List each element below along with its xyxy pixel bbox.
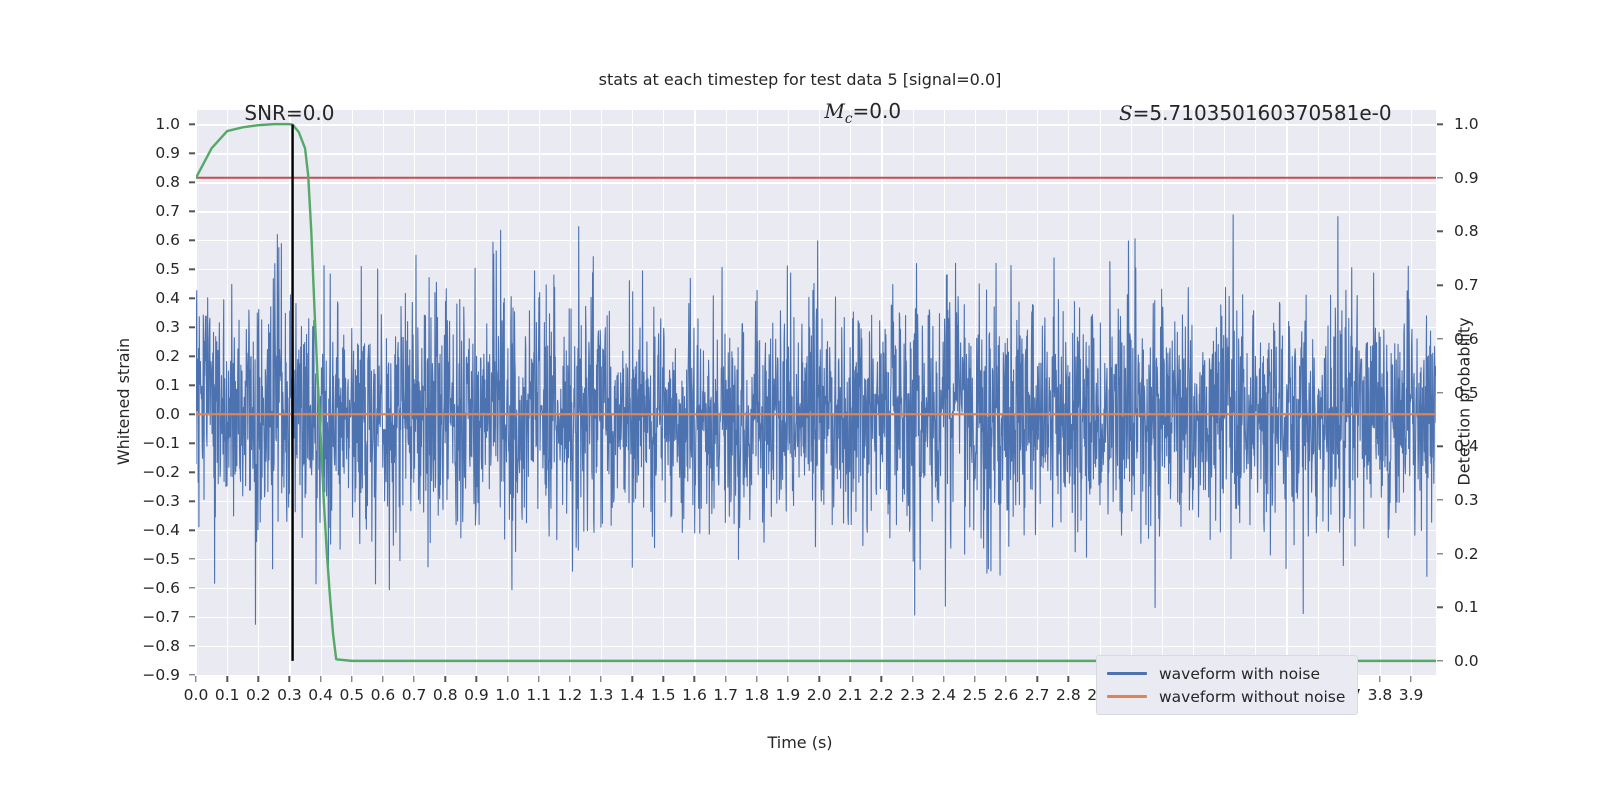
x-tick-mark [507,676,508,682]
x-tick-mark [382,676,383,682]
x-tick-label: 2.8 [1056,686,1081,704]
x-tick-mark [725,676,726,682]
x-tick-label: 2.0 [807,686,832,704]
x-tick-label: 0.9 [464,686,489,704]
x-tick-label: 2.1 [838,686,863,704]
x-tick-mark [445,676,446,682]
x-tick-mark [694,676,695,682]
x-tick-label: 0.1 [215,686,240,704]
y-tick-label-left: 0.9 [120,144,180,162]
x-tick-mark [631,676,632,682]
y-tick-mark-right [1437,660,1443,661]
y-tick-label-left: −0.5 [120,550,180,568]
x-tick-label: 1.2 [558,686,583,704]
y-tick-label-left: −0.3 [120,492,180,510]
x-axis-label: Time (s) [0,733,1600,752]
chart-title: stats at each timestep for test data 5 [… [0,70,1600,89]
y-tick-label-left: −0.9 [120,666,180,684]
y-tick-label-right: 0.3 [1454,491,1514,509]
y-tick-label-left: −0.4 [120,521,180,539]
x-tick-mark [195,676,196,682]
legend-item: waveform with noise [1107,662,1345,685]
y-tick-label-right: 0.5 [1454,384,1514,402]
x-tick-label: 2.4 [931,686,956,704]
y-tick-label-left: 0.5 [120,260,180,278]
x-tick-mark [943,676,944,682]
x-tick-label: 0.6 [371,686,396,704]
y-tick-label-left: −0.2 [120,463,180,481]
y-tick-mark-left [189,645,195,646]
y-tick-label-right: 0.6 [1454,330,1514,348]
y-tick-mark-left [189,153,195,154]
y-tick-mark-left [189,269,195,270]
x-tick-mark [351,676,352,682]
y-tick-mark-left [189,124,195,125]
x-tick-mark [538,676,539,682]
y-tick-mark-left [189,674,195,675]
y-tick-label-right: 0.2 [1454,545,1514,563]
y-tick-mark-left [189,327,195,328]
x-tick-mark [818,676,819,682]
y-tick-label-left: 0.1 [120,376,180,394]
x-tick-label: 2.5 [963,686,988,704]
y-tick-label-left: 1.0 [120,115,180,133]
y-tick-mark-left [189,182,195,183]
y-tick-label-left: 0.0 [120,405,180,423]
x-tick-label: 2.3 [900,686,925,704]
annotation-chirp-mass: Mc=0.0 [824,99,901,127]
y-tick-label-right: 0.1 [1454,598,1514,616]
y-tick-mark-left [189,240,195,241]
x-tick-label: 1.5 [651,686,676,704]
data-layer [196,110,1436,675]
legend[interactable]: waveform with noise waveform without noi… [1096,655,1358,715]
y-tick-label-left: −0.8 [120,637,180,655]
y-tick-mark-left [189,414,195,415]
x-tick-mark [1410,676,1411,682]
y-tick-mark-left [189,587,195,588]
legend-item: waveform without noise [1107,685,1345,708]
y-tick-label-left: 0.2 [120,347,180,365]
x-tick-label: 1.7 [713,686,738,704]
y-tick-mark-left [189,500,195,501]
x-tick-mark [756,676,757,682]
y-tick-mark-right [1437,392,1443,393]
plot-clip [196,110,1436,675]
x-tick-mark [413,676,414,682]
y-tick-mark-right [1437,338,1443,339]
y-tick-mark-right [1437,553,1443,554]
y-tick-mark-left [189,211,195,212]
x-tick-mark [663,676,664,682]
y-tick-mark-right [1437,499,1443,500]
x-tick-mark [912,676,913,682]
y-tick-label-left: 0.6 [120,231,180,249]
y-tick-label-left: −0.1 [120,434,180,452]
x-tick-mark [787,676,788,682]
x-tick-label: 1.1 [526,686,551,704]
y-tick-mark-left [189,356,195,357]
x-tick-label: 1.6 [682,686,707,704]
legend-label: waveform without noise [1159,688,1345,706]
x-tick-mark [974,676,975,682]
annotation-snr: SNR=0.0 [244,101,334,125]
x-tick-mark [320,676,321,682]
y-tick-mark-left [189,558,195,559]
y-tick-label-right: 0.0 [1454,652,1514,670]
annotation-statistic: S=5.710350160370581e-0 [1119,101,1392,125]
x-tick-label: 1.3 [589,686,614,704]
x-tick-label: 1.8 [744,686,769,704]
y-tick-mark-right [1437,445,1443,446]
y-tick-mark-left [189,385,195,386]
x-tick-label: 3.9 [1399,686,1424,704]
y-tick-label-right: 0.8 [1454,222,1514,240]
legend-swatch-waveform-with-noise [1107,672,1147,675]
y-tick-label-left: 0.4 [120,289,180,307]
x-tick-label: 1.9 [776,686,801,704]
y-tick-mark-left [189,298,195,299]
figure: stats at each timestep for test data 5 [… [0,0,1600,800]
y-tick-mark-right [1437,607,1443,608]
y-tick-label-left: 0.7 [120,202,180,220]
y-tick-label-left: 0.3 [120,318,180,336]
y-tick-mark-right [1437,284,1443,285]
y-tick-label-right: 1.0 [1454,115,1514,133]
x-tick-label: 2.2 [869,686,894,704]
x-tick-mark [289,676,290,682]
x-tick-mark [881,676,882,682]
x-tick-label: 0.5 [339,686,364,704]
x-tick-label: 2.6 [994,686,1019,704]
y-tick-label-left: −0.6 [120,579,180,597]
x-tick-mark [226,676,227,682]
x-tick-mark [1005,676,1006,682]
plot-area [196,110,1436,675]
legend-swatch-waveform-without-noise [1107,695,1147,698]
y-tick-label-right: 0.4 [1454,437,1514,455]
y-tick-mark-right [1437,123,1443,124]
series-waveform-with-noise [196,215,1436,624]
x-tick-mark [258,676,259,682]
x-tick-mark [1379,676,1380,682]
x-tick-label: 0.7 [402,686,427,704]
x-tick-label: 2.7 [1025,686,1050,704]
x-tick-label: 0.8 [433,686,458,704]
y-tick-mark-left [189,471,195,472]
x-tick-mark [476,676,477,682]
x-tick-mark [600,676,601,682]
x-tick-label: 0.3 [277,686,302,704]
y-tick-label-right: 0.7 [1454,276,1514,294]
x-tick-label: 0.4 [308,686,333,704]
x-tick-mark [1068,676,1069,682]
x-tick-label: 0.2 [246,686,271,704]
y-tick-mark-left [189,616,195,617]
x-tick-mark [1037,676,1038,682]
x-tick-mark [569,676,570,682]
x-tick-label: 1.4 [620,686,645,704]
y-tick-mark-right [1437,231,1443,232]
y-tick-label-left: 0.8 [120,173,180,191]
x-tick-mark [850,676,851,682]
x-tick-label: 3.8 [1368,686,1393,704]
x-tick-label: 0.0 [184,686,209,704]
y-tick-label-left: −0.7 [120,608,180,626]
y-tick-mark-left [189,443,195,444]
legend-label: waveform with noise [1159,665,1320,683]
y-tick-mark-left [189,529,195,530]
y-tick-label-right: 0.9 [1454,169,1514,187]
x-tick-label: 1.0 [495,686,520,704]
y-tick-mark-right [1437,177,1443,178]
